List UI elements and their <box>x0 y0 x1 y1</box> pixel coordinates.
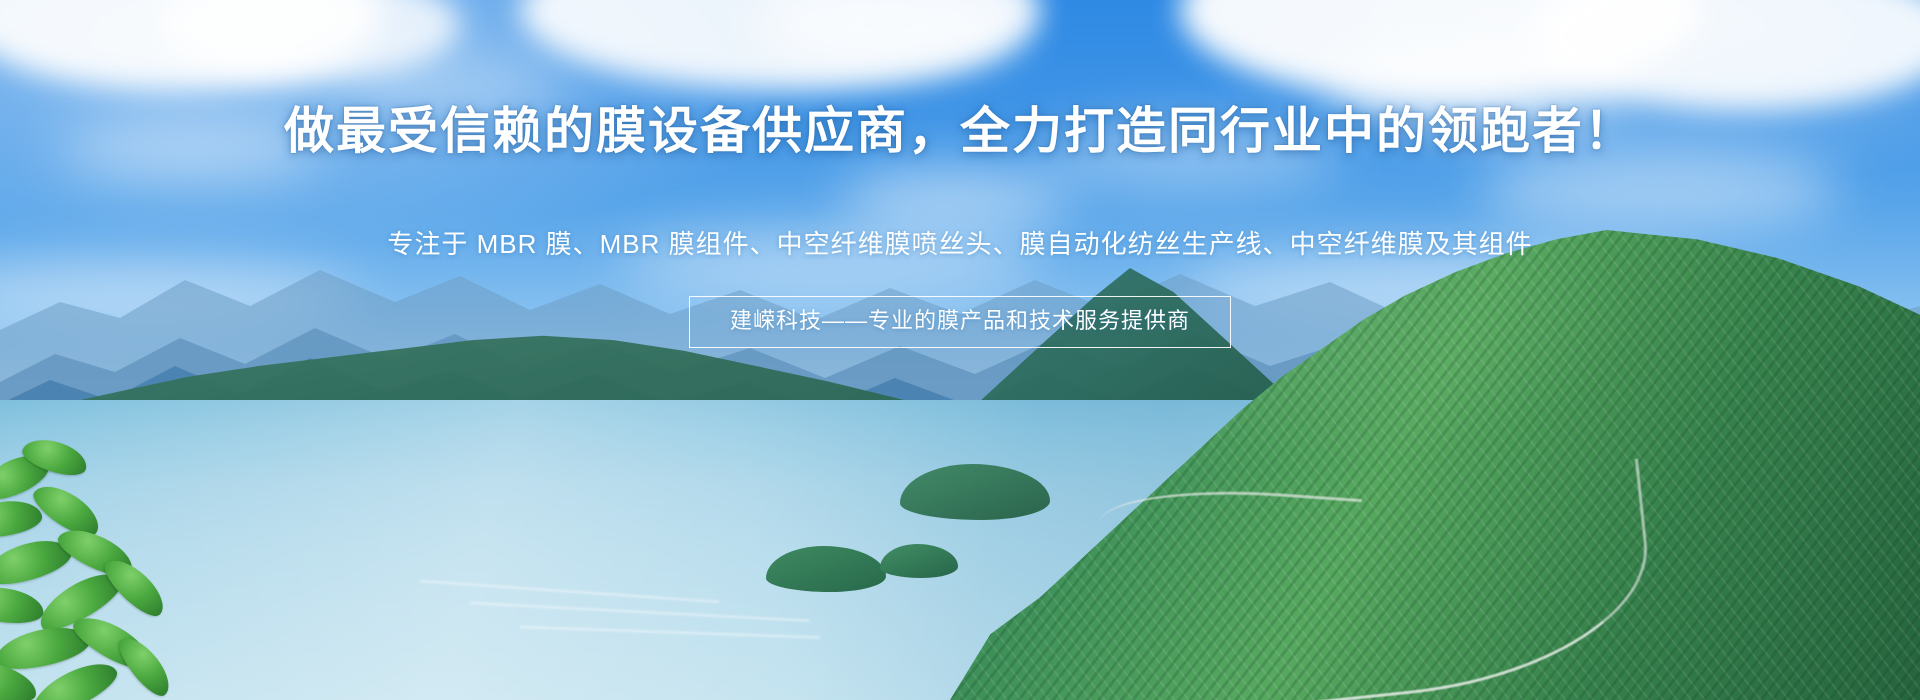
banner-subtitle: 专注于 MBR 膜、MBR 膜组件、中空纤维膜喷丝头、膜自动化纺丝生产线、中空纤… <box>0 228 1920 260</box>
banner-content: 做最受信赖的膜设备供应商，全力打造同行业中的领跑者！ 专注于 MBR 膜、MBR… <box>0 0 1920 700</box>
tagline-container: 建嵘科技——专业的膜产品和技术服务提供商 <box>0 296 1920 348</box>
banner-tagline: 建嵘科技——专业的膜产品和技术服务提供商 <box>689 296 1231 348</box>
banner-headline: 做最受信赖的膜设备供应商，全力打造同行业中的领跑者！ <box>0 104 1920 158</box>
hero-banner: 做最受信赖的膜设备供应商，全力打造同行业中的领跑者！ 专注于 MBR 膜、MBR… <box>0 0 1920 700</box>
